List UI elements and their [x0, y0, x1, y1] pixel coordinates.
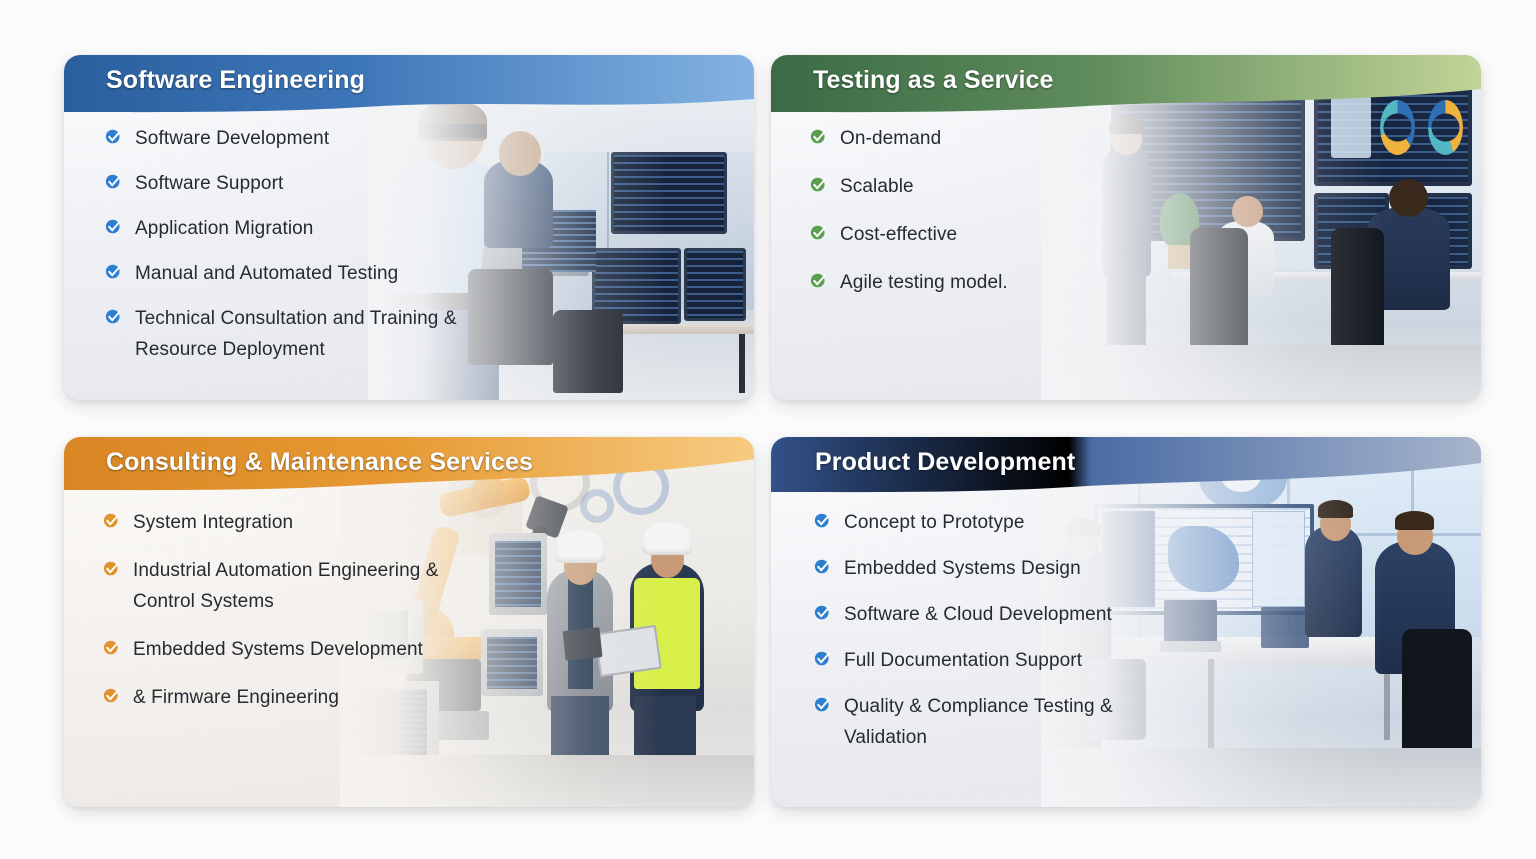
check-badge-icon — [809, 271, 828, 290]
list-item-label: Software Support — [135, 168, 283, 199]
list-item-label: Technical Consultation and Training & Re… — [135, 303, 504, 365]
list-item-label: Industrial Automation Engineering & Cont… — [133, 555, 482, 617]
list-item-label: On-demand — [840, 123, 941, 154]
card-title: Consulting & Maintenance Services — [106, 445, 533, 479]
list-item: Quality & Compliance Testing & Validatio… — [813, 691, 1143, 753]
card-header-testing-as-a-service: Testing as a Service — [771, 55, 1481, 113]
list-item-label: Agile testing model. — [840, 267, 1008, 298]
card-header-consulting-maintenance-services: Consulting & Maintenance Services — [64, 437, 754, 495]
service-cards-grid: Software Engineering Software Developmen… — [0, 0, 1536, 859]
list-item-label: Software Development — [135, 123, 329, 154]
list-item: Industrial Automation Engineering & Cont… — [102, 555, 482, 617]
list-item: Agile testing model. — [809, 267, 1229, 298]
feature-list-software-engineering: Software Development Software Support Ap… — [104, 123, 504, 379]
list-item: & Firmware Engineering — [102, 682, 482, 713]
list-item: Software Development — [104, 123, 504, 154]
check-badge-icon — [809, 223, 828, 242]
list-item-label: System Integration — [133, 507, 293, 538]
card-header-product-development: Product Development — [771, 437, 1481, 495]
feature-list-product-development: Concept to Prototype Embedded Systems De… — [813, 507, 1143, 768]
check-badge-icon — [809, 175, 828, 194]
check-badge-icon — [102, 559, 121, 578]
check-badge-icon — [813, 603, 832, 622]
check-badge-icon — [809, 127, 828, 146]
list-item: Embedded Systems Development — [102, 634, 482, 665]
card-consulting-maintenance-services[interactable]: Consulting & Maintenance Services System… — [64, 437, 754, 807]
check-badge-icon — [813, 557, 832, 576]
list-item-label: & Firmware Engineering — [133, 682, 339, 713]
check-badge-icon — [102, 686, 121, 705]
feature-list-consulting-maintenance-services: System Integration Industrial Automation… — [102, 507, 482, 730]
list-item: On-demand — [809, 123, 1229, 154]
check-badge-icon — [102, 638, 121, 657]
list-item-label: Cost-effective — [840, 219, 957, 250]
list-item-label: Scalable — [840, 171, 914, 202]
card-title: Product Development — [815, 445, 1075, 479]
list-item-label: Software & Cloud Development — [844, 599, 1112, 630]
list-item: Application Migration — [104, 213, 504, 244]
check-badge-icon — [104, 262, 123, 281]
list-item: Software Support — [104, 168, 504, 199]
list-item: Scalable — [809, 171, 1229, 202]
feature-list-testing-as-a-service: On-demand Scalable Cost-effective Agile … — [809, 123, 1229, 315]
card-software-engineering[interactable]: Software Engineering Software Developmen… — [64, 55, 754, 400]
check-badge-icon — [813, 649, 832, 668]
list-item-label: Application Migration — [135, 213, 313, 244]
list-item-label: Manual and Automated Testing — [135, 258, 398, 289]
check-badge-icon — [104, 307, 123, 326]
check-badge-icon — [102, 511, 121, 530]
check-badge-icon — [104, 217, 123, 236]
check-badge-icon — [813, 695, 832, 714]
list-item-label: Embedded Systems Design — [844, 553, 1081, 584]
list-item-label: Quality & Compliance Testing & Validatio… — [844, 691, 1143, 753]
list-item: Full Documentation Support — [813, 645, 1143, 676]
list-item: Technical Consultation and Training & Re… — [104, 303, 504, 365]
card-title: Software Engineering — [106, 63, 365, 97]
list-item-label: Concept to Prototype — [844, 507, 1025, 538]
list-item: Embedded Systems Design — [813, 553, 1143, 584]
list-item: System Integration — [102, 507, 482, 538]
list-item: Cost-effective — [809, 219, 1229, 250]
list-item-label: Embedded Systems Development — [133, 634, 423, 665]
list-item: Manual and Automated Testing — [104, 258, 504, 289]
card-header-software-engineering: Software Engineering — [64, 55, 754, 113]
card-testing-as-a-service[interactable]: Testing as a Service On-demand Scalable … — [771, 55, 1481, 400]
card-product-development[interactable]: Product Development Concept to Prototype… — [771, 437, 1481, 807]
check-badge-icon — [104, 172, 123, 191]
list-item: Concept to Prototype — [813, 507, 1143, 538]
card-title: Testing as a Service — [813, 63, 1054, 97]
list-item: Software & Cloud Development — [813, 599, 1143, 630]
check-badge-icon — [813, 511, 832, 530]
list-item-label: Full Documentation Support — [844, 645, 1082, 676]
check-badge-icon — [104, 127, 123, 146]
